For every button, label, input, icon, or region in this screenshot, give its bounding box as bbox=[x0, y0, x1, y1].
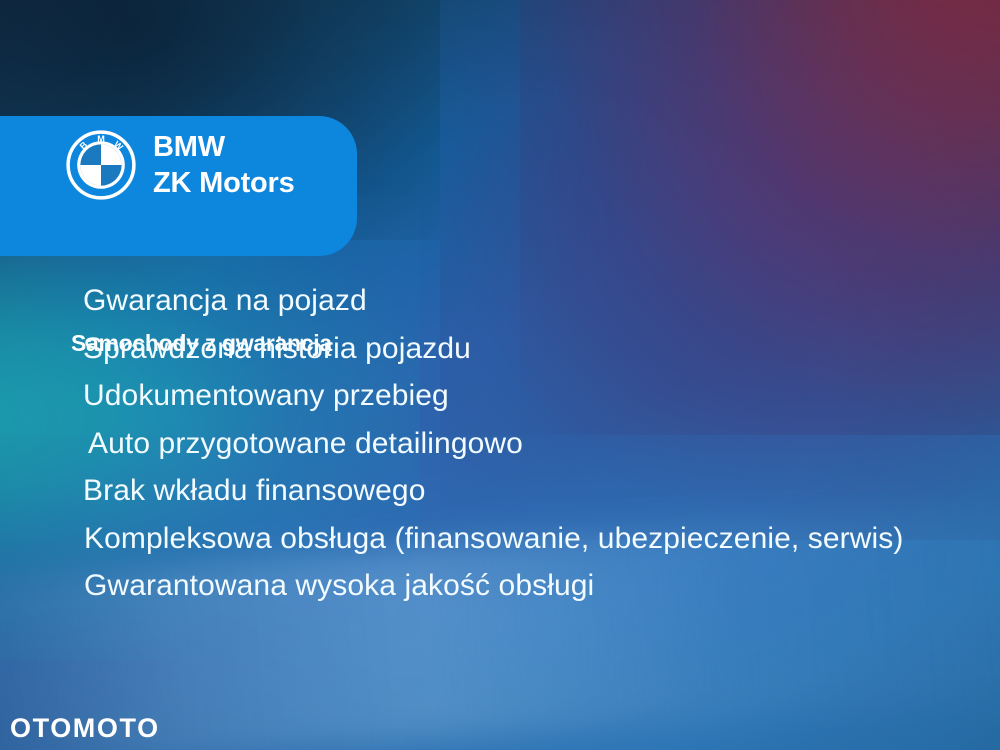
feature-list-item: Kompleksowa obsługa (finansowanie, ubezp… bbox=[0, 520, 1000, 568]
feature-list-item: Gwarancja na pojazd bbox=[0, 282, 1000, 330]
feature-list-item: Gwarantowana wysoka jakość obsługi bbox=[0, 567, 1000, 615]
feature-list-item: Brak wkładu finansowego bbox=[0, 472, 1000, 520]
dealer-badge-header: B M W BMW ZK Motors bbox=[66, 130, 295, 200]
promo-banner: B M W BMW ZK Motors Samochody z gwarancj… bbox=[0, 0, 1000, 750]
badge-brand-label: BMW bbox=[153, 133, 295, 162]
badge-dealer-label: ZK Motors bbox=[153, 169, 295, 198]
feature-list-item: Udokumentowany przebieg bbox=[0, 377, 1000, 425]
otomoto-watermark: OTOMOTO bbox=[10, 713, 160, 744]
feature-list: Gwarancja na pojazd Sprawdzona historia … bbox=[0, 282, 1000, 615]
feature-list-item: Auto przygotowane detailingowo bbox=[0, 425, 1000, 473]
feature-list-item: Sprawdzona historia pojazdu bbox=[0, 330, 1000, 378]
bmw-roundel-icon: B M W bbox=[66, 130, 136, 200]
dealer-badge-names: BMW ZK Motors bbox=[153, 133, 295, 198]
dealer-badge: B M W BMW ZK Motors Samochody z gwarancj… bbox=[0, 116, 357, 256]
svg-text:M: M bbox=[97, 134, 105, 144]
